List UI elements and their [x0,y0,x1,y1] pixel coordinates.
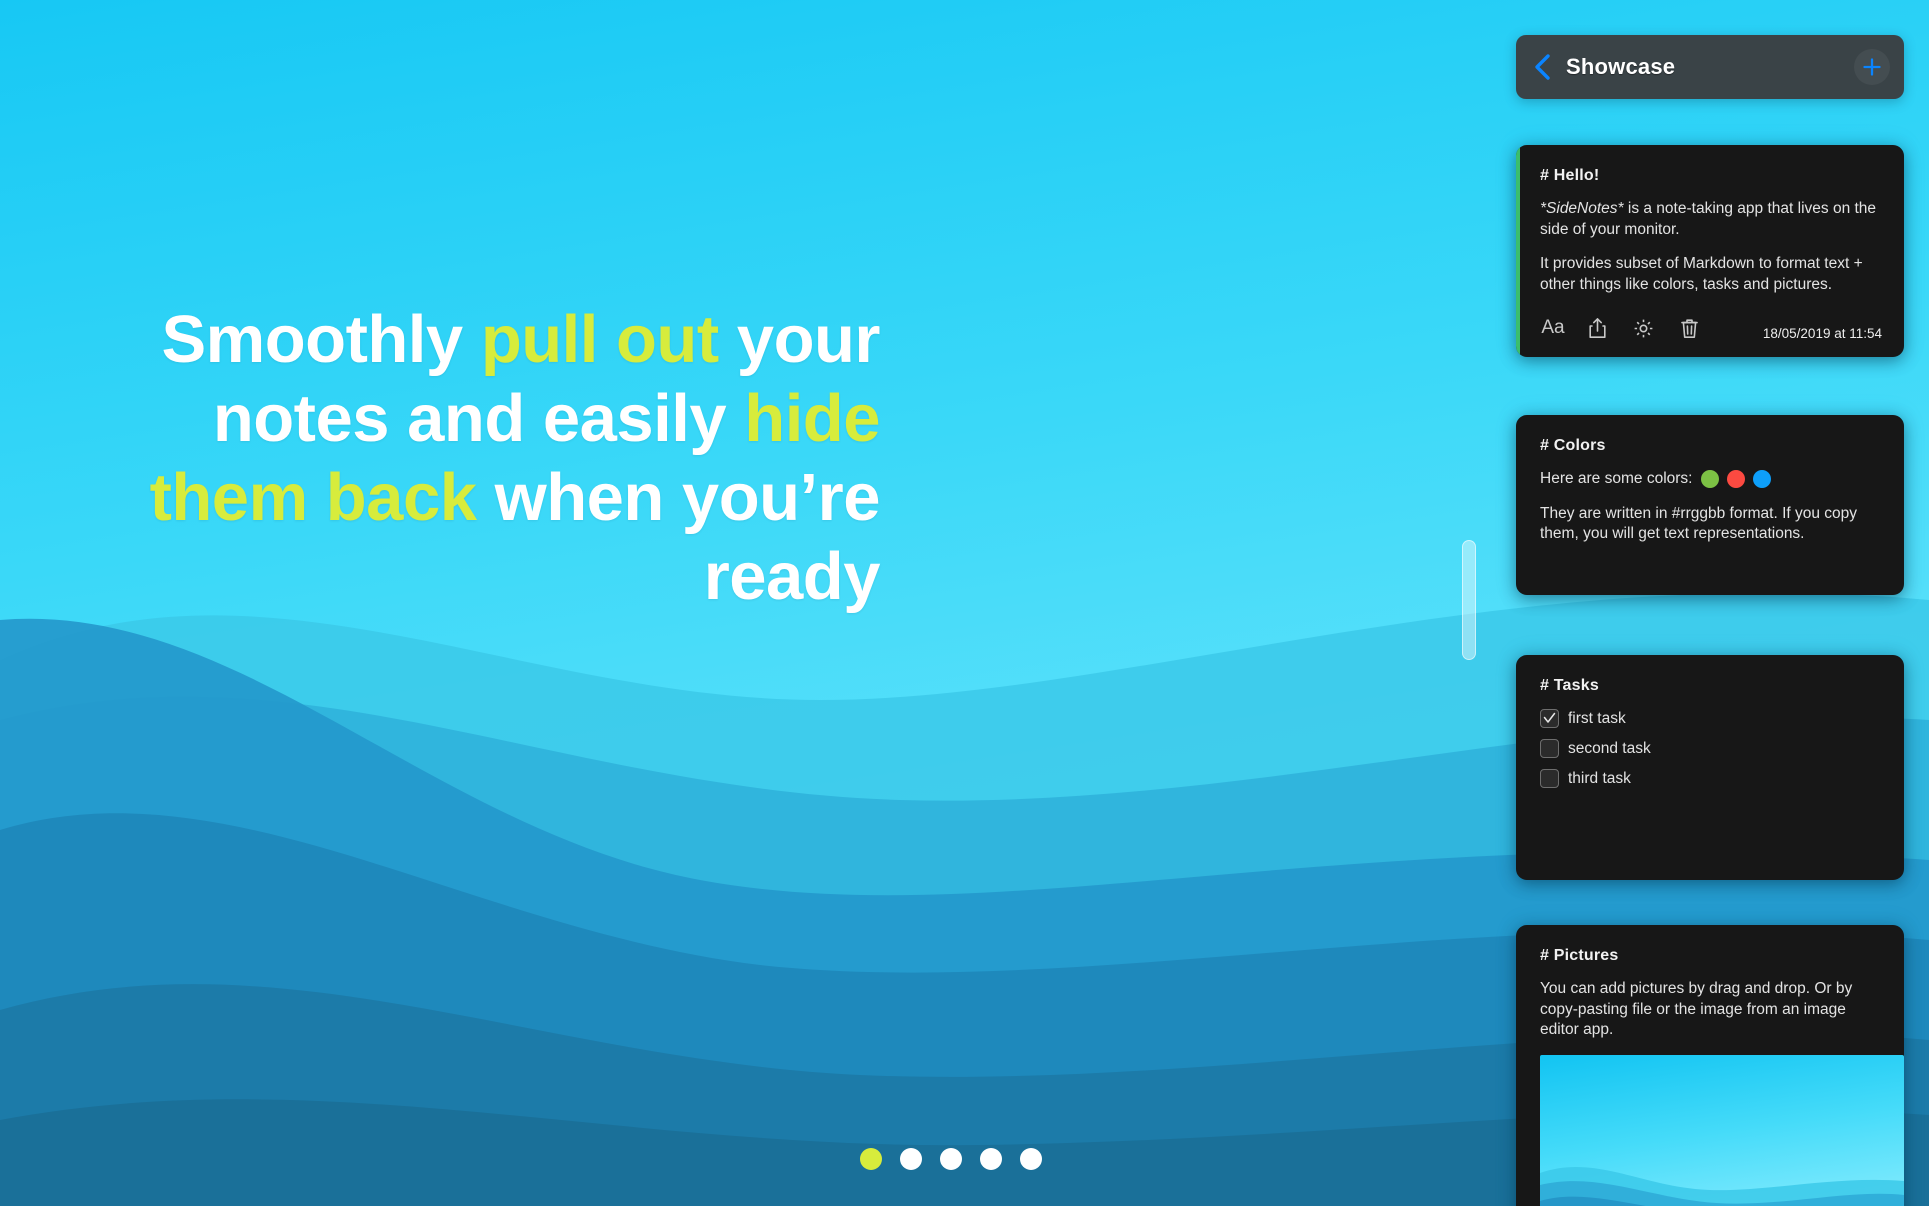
note-paragraph: They are written in #rrggbb format. If y… [1540,504,1880,545]
color-swatch-red[interactable] [1727,470,1745,488]
note-title: # Colors [1540,437,1880,455]
note-paragraph: It provides subset of Markdown to format… [1540,254,1880,295]
note-toolbar: Aa [1516,309,1904,357]
share-icon[interactable] [1584,315,1610,341]
panel-header: Showcase [1516,35,1904,99]
page-dot-1[interactable] [860,1148,882,1170]
note-paragraph: *SideNotes* is a note-taking app that li… [1540,199,1880,240]
add-note-button[interactable] [1854,49,1890,85]
page-dot-5[interactable] [1020,1148,1042,1170]
thumbnail-graphic [1540,1055,1904,1206]
task-row[interactable]: third task [1540,769,1880,788]
checkbox-unchecked[interactable] [1540,769,1559,788]
note-card-colors[interactable]: # Colors Here are some colors: They are … [1516,415,1904,595]
color-swatch-blue[interactable] [1753,470,1771,488]
task-label: third task [1568,770,1631,788]
page-dot-2[interactable] [900,1148,922,1170]
headline-segment-5: when you’re ready [476,460,880,614]
checkbox-unchecked[interactable] [1540,739,1559,758]
task-row[interactable]: second task [1540,739,1880,758]
note-card-tasks[interactable]: # Tasks first task second task third tas [1516,655,1904,880]
checkmark-icon [1543,712,1556,725]
panel-scrollbar[interactable] [1462,540,1476,660]
gear-glyph [1633,318,1654,339]
scrollbar-thumb[interactable] [1462,540,1476,660]
note-title: # Hello! [1540,167,1880,185]
note-paragraph: You can add pictures by drag and drop. O… [1540,979,1880,1041]
embedded-wallpaper-thumbnail[interactable] [1540,1055,1904,1206]
note-color-line: Here are some colors: [1540,469,1880,490]
trash-glyph [1680,318,1699,339]
panel-title: Showcase [1566,54,1675,80]
checkbox-checked[interactable] [1540,709,1559,728]
headline-segment-2: pull out [481,302,719,377]
trash-icon[interactable] [1676,315,1702,341]
note-title: # Tasks [1540,677,1880,695]
page-dot-4[interactable] [980,1148,1002,1170]
chevron-left-icon[interactable] [1526,50,1560,84]
task-label: first task [1568,710,1626,728]
page-indicator [860,1148,1042,1170]
note-paragraph-text: Here are some colors: [1540,469,1692,490]
plus-icon [1861,56,1883,78]
gear-icon[interactable] [1630,315,1656,341]
note-card-pictures[interactable]: # Pictures You can add pictures by drag … [1516,925,1904,1206]
share-glyph [1588,317,1607,339]
headline-segment-1: Smoothly [161,302,480,377]
chevron-left-glyph [1533,52,1553,82]
color-swatch-group [1701,470,1771,488]
note-title: # Pictures [1540,947,1880,965]
color-swatch-green[interactable] [1701,470,1719,488]
font-size-icon[interactable]: Aa [1540,315,1566,341]
task-label: second task [1568,740,1651,758]
note-timestamp: 18/05/2019 at 11:54 [1763,326,1882,341]
note-card-hello[interactable]: # Hello! *SideNotes* is a note-taking ap… [1516,145,1904,357]
sidenotes-panel: Showcase # Hello! *SideNotes* is a note-… [1500,0,1929,1206]
desktop-screen: Smoothly pull out your notes and easily … [0,0,1929,1206]
task-row[interactable]: first task [1540,709,1880,728]
italic-emphasis: *SideNotes* [1540,200,1624,217]
page-dot-3[interactable] [940,1148,962,1170]
slide-headline: Smoothly pull out your notes and easily … [120,300,880,616]
